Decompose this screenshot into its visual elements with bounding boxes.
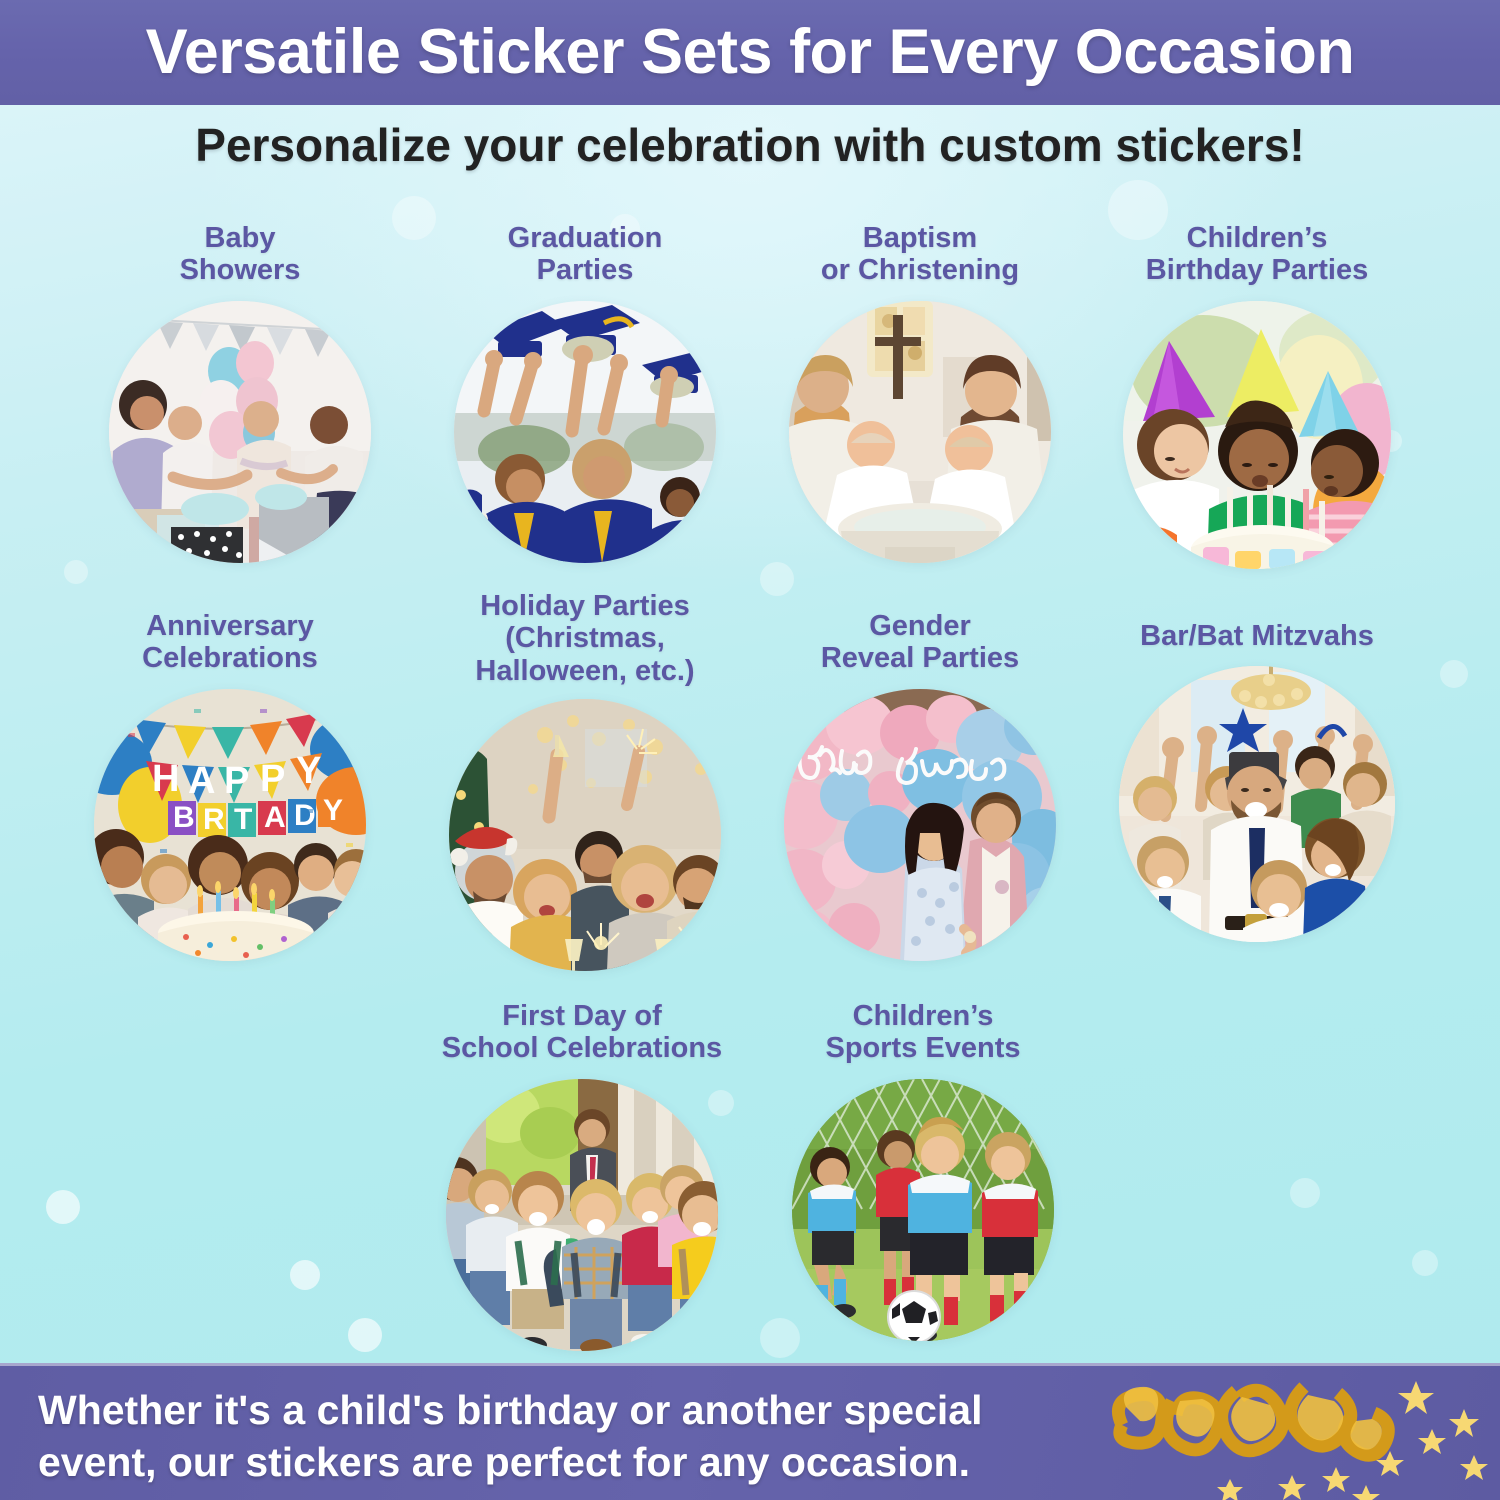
svg-text:A: A (264, 801, 286, 834)
childrens-birthday-photo (1123, 301, 1391, 569)
footer-banner: Whether it's a child's birthday or anoth… (0, 1363, 1500, 1500)
gold-ribbon-and-stars-icon (1060, 1363, 1500, 1500)
occasion-label: Graduation Parties (425, 222, 745, 287)
svg-text:H: H (152, 758, 179, 800)
occasion-card-bar-bat-mitzvahs[interactable]: Bar/Bat Mitzvahs (1092, 620, 1422, 942)
bubble-decoration (1412, 1250, 1438, 1276)
header-banner: Versatile Sticker Sets for Every Occasio… (0, 0, 1500, 105)
occasion-card-anniversary[interactable]: Anniversary Celebrations H A (70, 610, 390, 961)
baptism-photo (789, 301, 1051, 563)
svg-text:A: A (188, 760, 215, 802)
svg-text:B: B (173, 801, 195, 834)
occasion-label: Baby Showers (80, 222, 400, 287)
occasion-label: Baptism or Christening (760, 222, 1080, 287)
bubble-decoration (64, 560, 88, 584)
subtitle: Personalize your celebration with custom… (0, 120, 1500, 171)
anniversary-photo: H A P P Y B R T A D Y (94, 689, 366, 961)
graduation-photo (454, 301, 716, 563)
bubble-decoration (46, 1190, 80, 1224)
occasion-card-baby-showers[interactable]: Baby Showers (80, 222, 400, 563)
occasion-card-graduation-parties[interactable]: Graduation Parties (425, 222, 745, 563)
occasion-card-childrens-birthday[interactable]: Children’s Birthday Parties (1092, 222, 1422, 569)
occasion-label: Holiday Parties (Christmas, Halloween, e… (425, 590, 745, 687)
bubble-decoration (760, 562, 794, 596)
occasion-card-childrens-sports[interactable]: Children’s Sports Events (768, 1000, 1078, 1341)
svg-text:Y: Y (323, 794, 343, 827)
svg-text:R: R (203, 803, 225, 836)
holiday-party-photo (449, 699, 721, 971)
bubble-decoration (348, 1318, 382, 1352)
occasion-label: First Day of School Celebrations (412, 1000, 752, 1065)
occasion-label: Gender Reveal Parties (760, 610, 1080, 675)
bar-bat-mitzvah-photo (1119, 666, 1395, 942)
bubble-decoration (1440, 660, 1468, 688)
footer-tagline: Whether it's a child's birthday or anoth… (38, 1385, 1068, 1488)
svg-text:Y: Y (296, 750, 321, 792)
gender-reveal-photo (784, 689, 1056, 961)
occasion-card-gender-reveal[interactable]: Gender Reveal Parties (760, 610, 1080, 961)
occasion-label: Bar/Bat Mitzvahs (1092, 620, 1422, 652)
svg-text:D: D (294, 799, 316, 832)
occasion-label: Anniversary Celebrations (70, 610, 390, 675)
bubble-decoration (1290, 1178, 1320, 1208)
svg-text:T: T (234, 803, 252, 836)
first-day-school-photo (446, 1079, 718, 1351)
occasion-label: Children’s Sports Events (768, 1000, 1078, 1065)
occasion-card-holiday-parties[interactable]: Holiday Parties (Christmas, Halloween, e… (425, 590, 745, 971)
baby-shower-photo (109, 301, 371, 563)
childrens-sports-photo (792, 1079, 1054, 1341)
occasion-card-first-day-school[interactable]: First Day of School Celebrations (412, 1000, 752, 1351)
occasion-card-baptism[interactable]: Baptism or Christening (760, 222, 1080, 563)
svg-text:P: P (224, 760, 249, 802)
occasion-label: Children’s Birthday Parties (1092, 222, 1422, 287)
page-title: Versatile Sticker Sets for Every Occasio… (146, 21, 1355, 84)
svg-text:P: P (260, 758, 285, 800)
infographic-page: Versatile Sticker Sets for Every Occasio… (0, 0, 1500, 1500)
bubble-decoration (290, 1260, 320, 1290)
